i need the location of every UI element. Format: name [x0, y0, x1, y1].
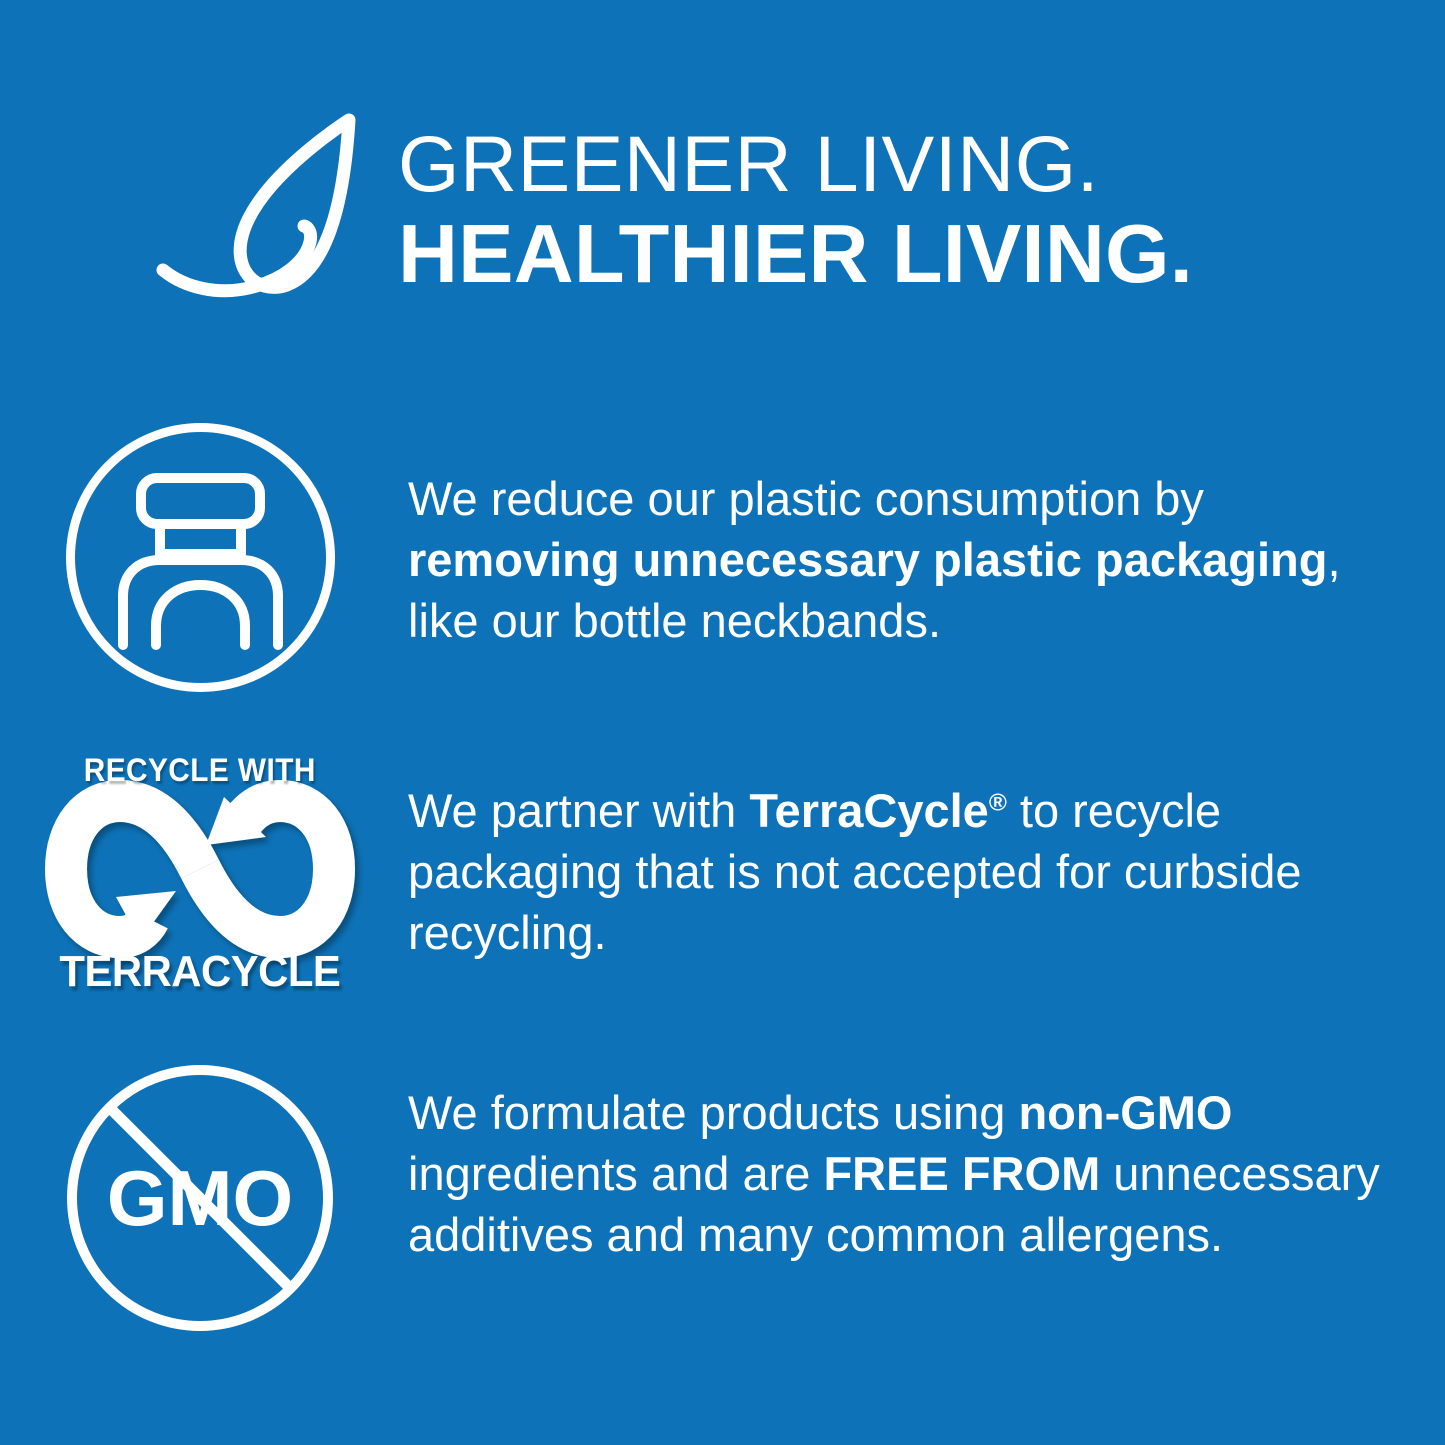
headline-block: GREENER LIVING. HEALTHIER LIVING. [398, 123, 1445, 297]
text-part-1: We formulate products using [408, 1086, 1018, 1139]
terracycle-top-label: RECYCLE WITH [84, 752, 316, 789]
feature-text-gmo: We formulate products using non-GMO ingr… [408, 1082, 1405, 1265]
text-column-3: We formulate products using non-GMO ingr… [400, 1062, 1445, 1265]
text-part-2: ingredients and are [408, 1147, 823, 1200]
feature-text-terracycle: We partner with TerraCycle® to recycle p… [408, 780, 1405, 963]
no-gmo-icon: GMO [64, 1062, 336, 1334]
text-part-1: We partner with [408, 784, 749, 837]
icon-column-2: RECYCLE WITH [0, 752, 400, 997]
icon-column-1 [0, 420, 400, 695]
recycle-infinity-icon [54, 793, 346, 945]
feature-row-gmo: GMO We formulate products using non-GMO … [0, 1062, 1445, 1334]
header-banner: GREENER LIVING. HEALTHIER LIVING. [0, 95, 1445, 325]
feature-text-plastic: We reduce our plastic consumption by rem… [408, 468, 1405, 651]
terracycle-bottom-label: TERRACYCLE [60, 947, 341, 997]
text-bold-2: FREE FROM [823, 1147, 1100, 1200]
registered-mark-icon [319, 918, 335, 934]
gmo-label: GMO [107, 1154, 293, 1242]
leaf-icon-wrapper [150, 105, 380, 315]
text-column-1: We reduce our plastic consumption by rem… [400, 420, 1445, 651]
text-bold-1: non-GMO [1018, 1086, 1232, 1139]
text-bold-1: TerraCycle [749, 784, 989, 837]
headline-line-2: HEALTHIER LIVING. [398, 211, 1445, 297]
text-bold-1: removing unnecessary plastic packaging [408, 533, 1327, 586]
terracycle-logo: RECYCLE WITH [54, 752, 346, 997]
plastic-bottle-circle-icon [63, 420, 338, 695]
headline-line-1: GREENER LIVING. [398, 123, 1445, 205]
registered-superscript: ® [989, 789, 1007, 816]
icon-column-3: GMO [0, 1062, 400, 1334]
leaf-icon [153, 110, 378, 310]
text-part-1: We reduce our plastic consumption by [408, 472, 1204, 525]
feature-row-terracycle: RECYCLE WITH [0, 752, 1445, 997]
feature-row-plastic: We reduce our plastic consumption by rem… [0, 420, 1445, 695]
text-column-2: We partner with TerraCycle® to recycle p… [400, 752, 1445, 963]
